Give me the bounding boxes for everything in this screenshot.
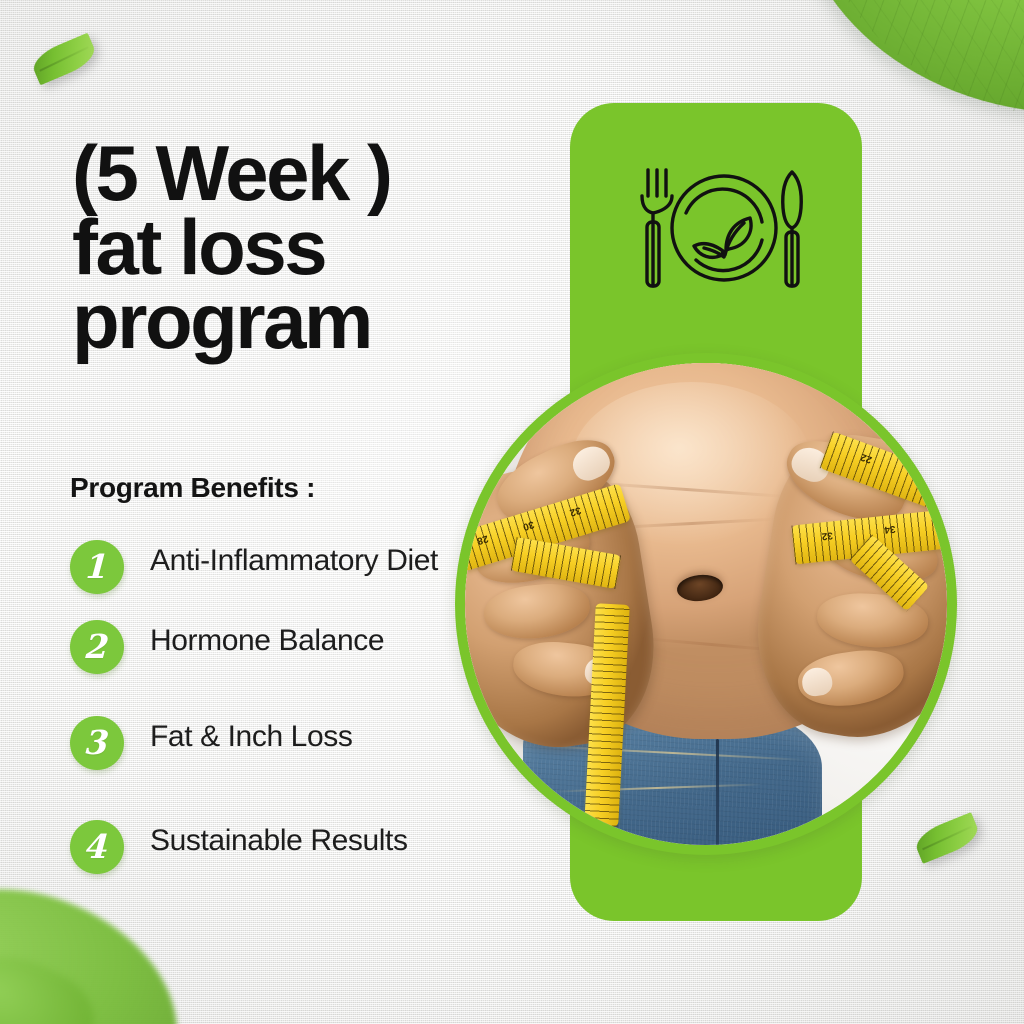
photo-ring: 28 30 32 22 24 32 34 — [455, 353, 957, 855]
status-badge: 3 — [70, 716, 124, 770]
headline-line-1: (5 Week ) — [72, 136, 532, 210]
badge-number: 1 — [84, 550, 109, 583]
badge-number: 3 — [84, 726, 109, 759]
tape-number: 32 — [821, 529, 833, 541]
badge-number: 2 — [84, 630, 109, 663]
benefits-list: 1 Anti-Inflammatory Diet 2 Hormone Balan… — [70, 540, 470, 886]
page-title: (5 Week ) fat loss program — [72, 136, 532, 358]
status-badge: 4 — [70, 820, 124, 874]
poster-canvas: 28 30 32 22 24 32 34 — [0, 0, 1024, 1024]
belly-fat-measuring-tape-photo: 28 30 32 22 24 32 34 — [465, 363, 947, 845]
benefit-label: Hormone Balance — [150, 620, 384, 660]
list-item: 4 Sustainable Results — [70, 820, 470, 886]
benefits-heading: Program Benefits : — [70, 472, 315, 504]
jeans-fly — [716, 739, 719, 845]
plate-fork-knife-leaf-icon — [634, 160, 814, 300]
headline-line-3: program — [72, 284, 532, 358]
tape-number: 34 — [883, 523, 895, 535]
benefit-label: Sustainable Results — [150, 820, 408, 860]
status-badge: 1 — [70, 540, 124, 594]
list-item: 1 Anti-Inflammatory Diet — [70, 540, 470, 606]
list-item: 3 Fat & Inch Loss — [70, 716, 470, 782]
headline-line-2: fat loss — [72, 210, 532, 284]
list-item: 2 Hormone Balance — [70, 620, 470, 686]
badge-number: 4 — [84, 830, 109, 863]
benefit-label: Anti-Inflammatory Diet — [150, 540, 438, 580]
benefit-label: Fat & Inch Loss — [150, 716, 352, 756]
leaf-icon — [29, 33, 100, 86]
status-badge: 2 — [70, 620, 124, 674]
